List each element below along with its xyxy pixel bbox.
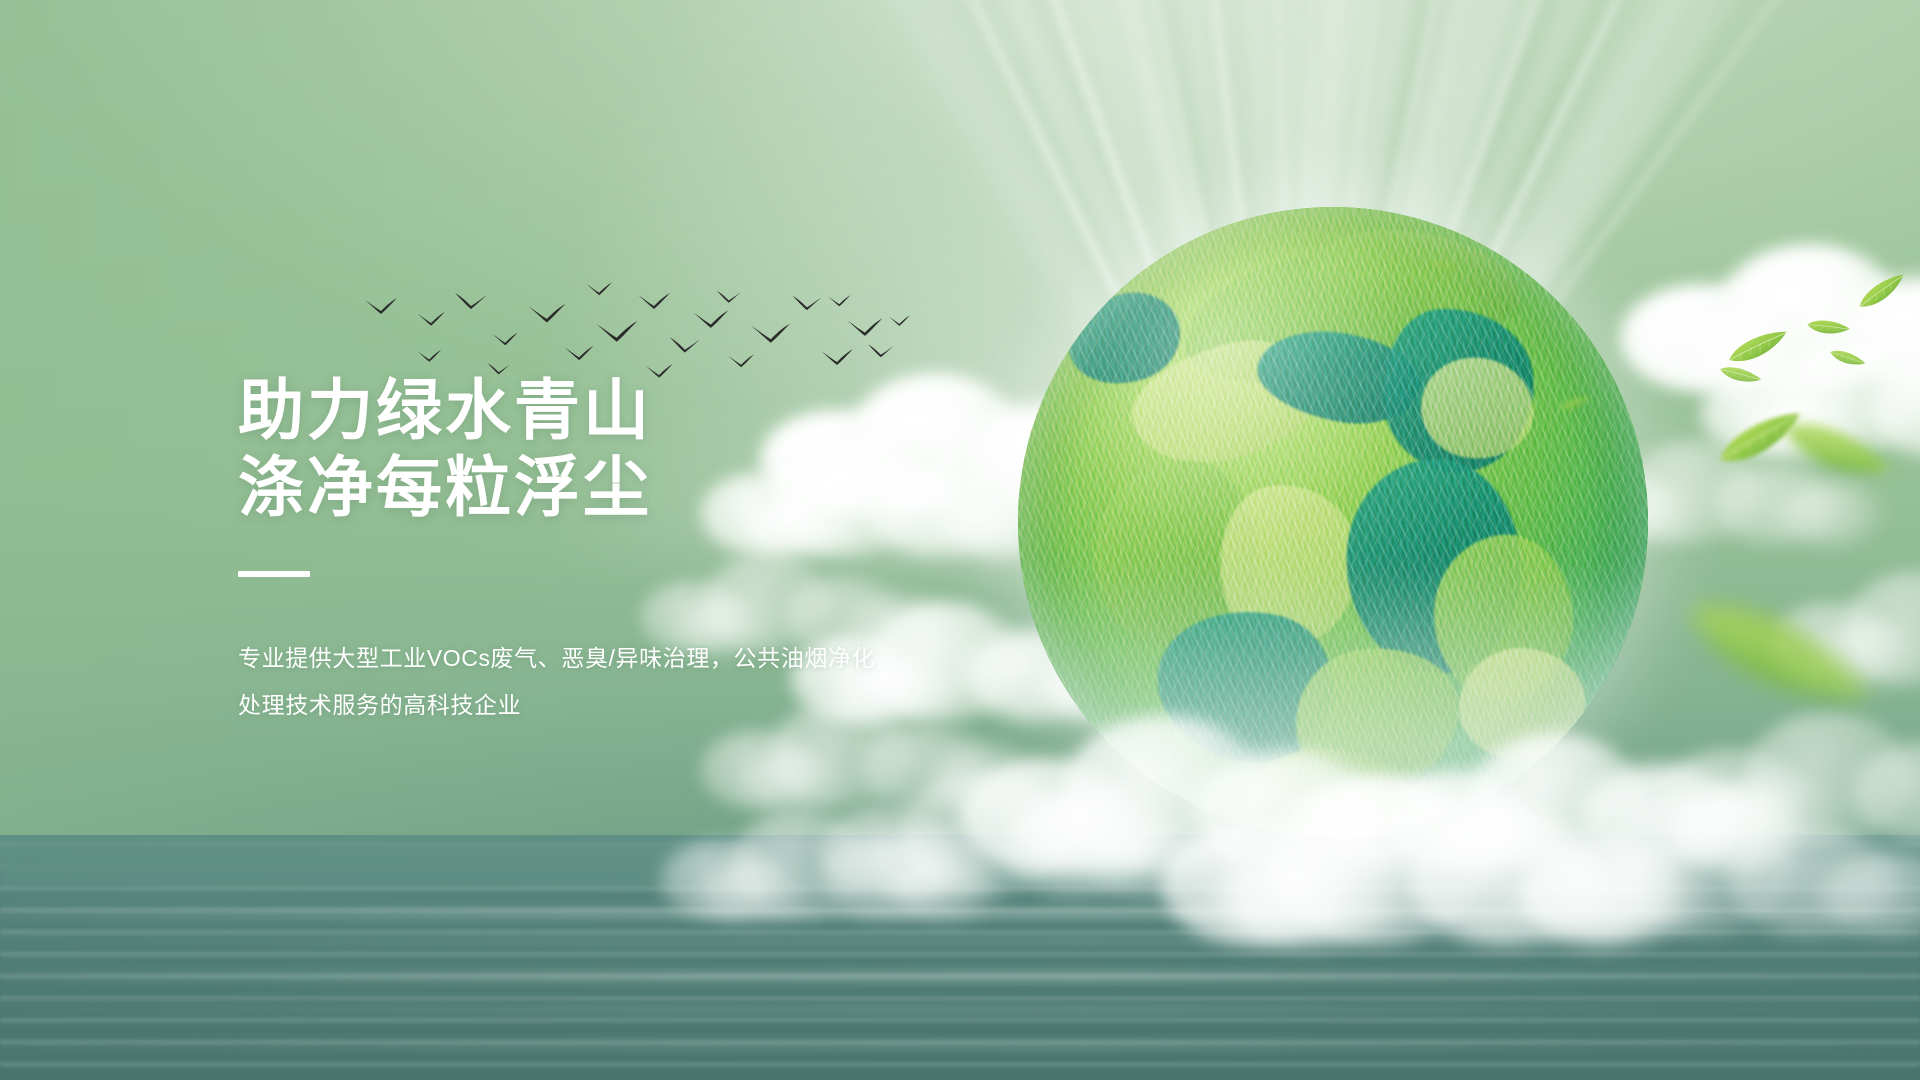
headline-line-2: 涤净每粒浮尘 — [238, 449, 998, 526]
banner-copy: 助力绿水青山 涤净每粒浮尘 专业提供大型工业VOCs废气、恶臭/异味治理，公共油… — [238, 372, 998, 752]
water-light-band — [0, 1041, 1920, 1049]
globe-mist — [1018, 560, 1648, 837]
banner-subtitle: 专业提供大型工业VOCs废气、恶臭/异味治理，公共油烟净化处理技术服务的高科技企… — [238, 635, 898, 729]
water-light-band — [0, 939, 1920, 944]
globe-sphere — [1018, 207, 1648, 837]
divider-rule — [238, 571, 310, 577]
headline-line-1: 助力绿水青山 — [238, 372, 998, 449]
page-title: 助力绿水青山 涤净每粒浮尘 — [238, 372, 998, 525]
water-light-band — [0, 971, 1920, 982]
water-surface — [0, 835, 1920, 1080]
water-horizon-blend — [0, 835, 1920, 885]
water-light-band — [0, 909, 1920, 918]
water-light-band — [0, 1007, 1920, 1013]
hero-banner: 助力绿水青山 涤净每粒浮尘 专业提供大型工业VOCs废气、恶臭/异味治理，公共油… — [0, 0, 1920, 1080]
grass-earth-globe — [1018, 207, 1648, 837]
